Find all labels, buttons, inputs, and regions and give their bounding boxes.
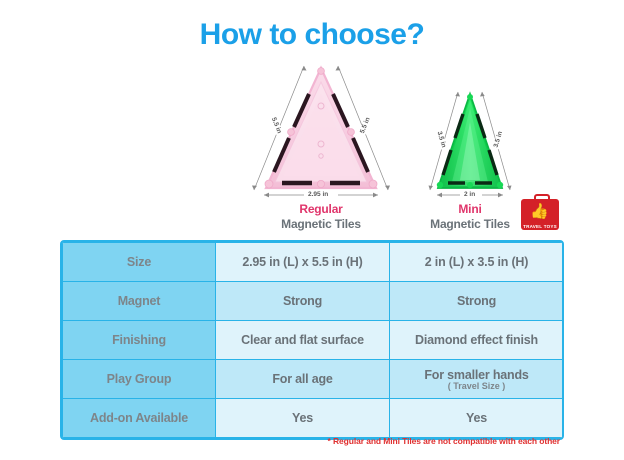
cell-mini-play-group-main: For smaller hands (424, 368, 528, 382)
row-label-magnet: Magnet (63, 282, 216, 321)
cell-mini-add-on: Yes (390, 399, 564, 438)
regular-tile-svg (236, 60, 406, 200)
cell-regular-finishing: Clear and flat surface (216, 321, 390, 360)
cell-mini-size: 2 in (L) x 3.5 in (H) (390, 243, 564, 282)
page-title: How to choose? (0, 18, 624, 52)
mini-tile-name: Mini (410, 202, 530, 216)
cell-regular-magnet: Strong (216, 282, 390, 321)
product-mini: 3.5 in 3.5 in 2 in Mini Magnetic Tiles (410, 82, 530, 231)
table-row: Magnet Strong Strong (63, 282, 564, 321)
travel-toys-badge: 👍 TRAVEL TOYS (521, 194, 559, 230)
cell-mini-magnet: Strong (390, 282, 564, 321)
cell-regular-add-on: Yes (216, 399, 390, 438)
mini-tile-svg (410, 82, 530, 200)
travel-toys-label: TRAVEL TOYS (521, 224, 559, 229)
mini-base-dimension-label: 2 in (462, 191, 477, 198)
cell-mini-play-group-sub: ( Travel Size ) (390, 381, 563, 391)
cell-mini-finishing: Diamond effect finish (390, 321, 564, 360)
row-label-finishing: Finishing (63, 321, 216, 360)
comparison-table: Size 2.95 in (L) x 5.5 in (H) 2 in (L) x… (60, 240, 564, 440)
regular-tile-illustration: 5.5 in 5.5 in 2.95 in (236, 60, 406, 200)
regular-tile-name: Regular (236, 202, 406, 216)
cell-regular-size: 2.95 in (L) x 5.5 in (H) (216, 243, 390, 282)
row-label-add-on: Add-on Available (63, 399, 216, 438)
mini-tile-subtitle: Magnetic Tiles (410, 217, 530, 231)
mini-tile-illustration: 3.5 in 3.5 in 2 in (410, 82, 530, 200)
regular-base-dimension-label: 2.95 in (306, 191, 330, 198)
table-row: Add-on Available Yes Yes (63, 399, 564, 438)
cell-mini-play-group: For smaller hands ( Travel Size ) (390, 360, 564, 399)
table-row: Finishing Clear and flat surface Diamond… (63, 321, 564, 360)
table-row: Size 2.95 in (L) x 5.5 in (H) 2 in (L) x… (63, 243, 564, 282)
cell-regular-play-group: For all age (216, 360, 390, 399)
comparison-table-inner: Size 2.95 in (L) x 5.5 in (H) 2 in (L) x… (62, 242, 564, 438)
row-label-play-group: Play Group (63, 360, 216, 399)
product-regular: 5.5 in 5.5 in 2.95 in Regular Magnetic T… (236, 60, 406, 231)
row-label-size: Size (63, 243, 216, 282)
table-row: Play Group For all age For smaller hands… (63, 360, 564, 399)
regular-tile-subtitle: Magnetic Tiles (236, 217, 406, 231)
thumbs-up-icon: 👍 (530, 204, 549, 219)
footnote: * Regular and Mini Tiles are not compati… (0, 436, 560, 446)
